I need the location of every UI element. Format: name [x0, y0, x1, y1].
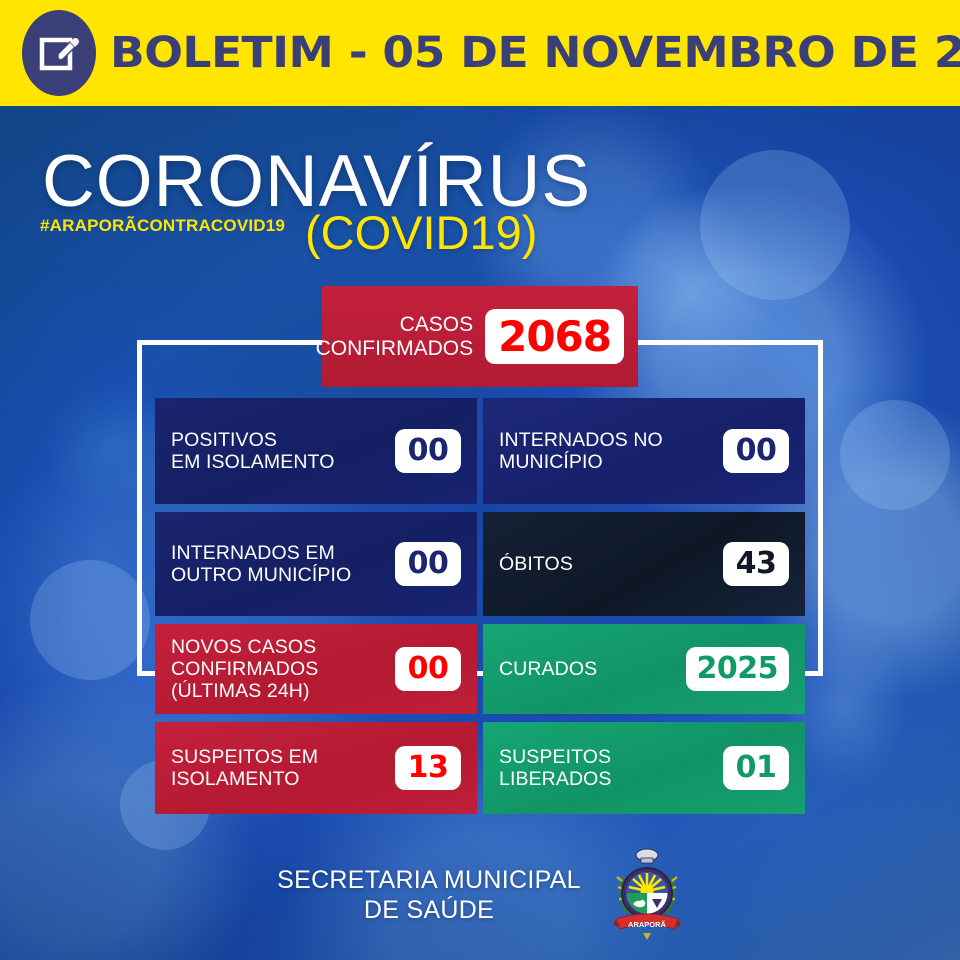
stats-grid: POSITIVOS EM ISOLAMENTO 00 INTERNADOS NO… [155, 398, 805, 822]
stats-row: INTERNADOS EM OUTRO MUNICÍPIO 00 ÓBITOS … [155, 512, 805, 616]
stat-label-line2: ISOLAMENTO [171, 768, 300, 790]
stat-card-internados-no-municipio: INTERNADOS NO MUNICÍPIO 00 [483, 398, 805, 504]
stat-label-line1: SUSPEITOS [499, 746, 611, 768]
stat-label: SUSPEITOS EM ISOLAMENTO [171, 746, 318, 790]
stat-label: ÓBITOS [499, 553, 573, 575]
stat-value: 13 [395, 746, 461, 789]
stat-card-internados-em-outro-municipio: INTERNADOS EM OUTRO MUNICÍPIO 00 [155, 512, 477, 616]
stat-label-line3: (ÚLTIMAS 24H) [171, 680, 310, 702]
stat-label-line2: EM ISOLAMENTO [171, 451, 334, 473]
header-title: BOLETIM - 05 DE NOVEMBRO DE 2021 [110, 28, 960, 78]
confirmed-label-line2: CONFIRMADOS [316, 337, 474, 360]
virus-spike [700, 150, 850, 300]
stat-value: 00 [395, 647, 461, 690]
edit-document-icon [22, 10, 96, 96]
stat-label-line1: SUSPEITOS EM [171, 746, 318, 768]
stat-label: INTERNADOS NO MUNICÍPIO [499, 429, 663, 473]
municipal-coat-of-arms-icon: ARAPORÃ [611, 847, 683, 943]
footer-line1: SECRETARIA MUNICIPAL [277, 866, 581, 894]
footer-line2: DE SAÚDE [364, 896, 494, 924]
stat-card-positivos-em-isolamento: POSITIVOS EM ISOLAMENTO 00 [155, 398, 477, 504]
stats-row: POSITIVOS EM ISOLAMENTO 00 INTERNADOS NO… [155, 398, 805, 504]
stat-value: 01 [723, 746, 789, 789]
stat-label: INTERNADOS EM OUTRO MUNICÍPIO [171, 542, 351, 586]
stat-label-line2: OUTRO MUNICÍPIO [171, 564, 351, 586]
stat-label-line1: ÓBITOS [499, 553, 573, 575]
stat-card-suspeitos-em-isolamento: SUSPEITOS EM ISOLAMENTO 13 [155, 722, 477, 814]
stat-label-line2: LIBERADOS [499, 768, 612, 790]
virus-spike [30, 560, 150, 680]
confirmed-cases-label: CASOS CONFIRMADOS [316, 313, 474, 360]
page-subtitle: (COVID19) [305, 205, 537, 260]
stat-value: 00 [395, 542, 461, 585]
stat-card-suspeitos-liberados: SUSPEITOS LIBERADOS 01 [483, 722, 805, 814]
stat-value: 43 [723, 542, 789, 585]
stat-label: NOVOS CASOS CONFIRMADOS (ÚLTIMAS 24H) [171, 636, 318, 703]
stat-label-line1: POSITIVOS [171, 429, 277, 451]
stat-label-line1: NOVOS CASOS [171, 636, 316, 658]
stat-value: 00 [395, 429, 461, 472]
stat-label-line1: INTERNADOS EM [171, 542, 335, 564]
stat-card-curados: CURADOS 2025 [483, 624, 805, 714]
confirmed-label-line1: CASOS [400, 313, 474, 336]
stats-row: NOVOS CASOS CONFIRMADOS (ÚLTIMAS 24H) 00… [155, 624, 805, 714]
confirmed-cases-banner: CASOS CONFIRMADOS 2068 [322, 286, 638, 387]
footer: SECRETARIA MUNICIPAL DE SAÚDE [0, 830, 960, 960]
stat-value: 00 [723, 429, 789, 472]
stat-label: POSITIVOS EM ISOLAMENTO [171, 429, 334, 473]
stat-card-obitos: ÓBITOS 43 [483, 512, 805, 616]
stat-label-line2: CONFIRMADOS [171, 658, 318, 680]
stat-value: 2025 [686, 647, 790, 690]
crest-ribbon-label: ARAPORÃ [628, 920, 667, 929]
stat-label: SUSPEITOS LIBERADOS [499, 746, 612, 790]
stat-label-line2: MUNICÍPIO [499, 451, 603, 473]
footer-organization: SECRETARIA MUNICIPAL DE SAÚDE [277, 865, 581, 925]
header-bar: BOLETIM - 05 DE NOVEMBRO DE 2021 [0, 0, 960, 106]
stat-label: CURADOS [499, 658, 597, 680]
confirmed-cases-value: 2068 [485, 309, 624, 364]
stats-row: SUSPEITOS EM ISOLAMENTO 13 SUSPEITOS LIB… [155, 722, 805, 814]
campaign-hashtag: #ARAPORÃCONTRACOVID19 [40, 216, 285, 236]
stat-label-line1: INTERNADOS NO [499, 429, 663, 451]
virus-spike [840, 400, 950, 510]
stat-card-novos-casos-confirmados: NOVOS CASOS CONFIRMADOS (ÚLTIMAS 24H) 00 [155, 624, 477, 714]
bulletin-page: BOLETIM - 05 DE NOVEMBRO DE 2021 CORONAV… [0, 0, 960, 960]
stat-label-line1: CURADOS [499, 658, 597, 680]
